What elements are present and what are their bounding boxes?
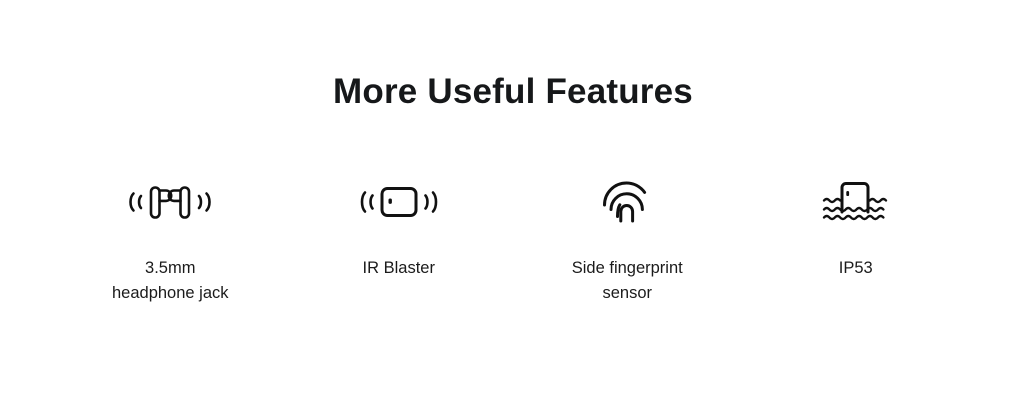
ir-blaster-icon [356, 174, 442, 230]
feature-item-ip-rating: IP53 [742, 174, 971, 281]
feature-item-headphone-jack: 3.5mm headphone jack [56, 174, 285, 306]
fingerprint-icon [600, 174, 654, 230]
feature-item-fingerprint: Side fingerprint sensor [513, 174, 742, 306]
feature-label: IR Blaster [363, 256, 435, 281]
feature-label: IP53 [839, 256, 873, 281]
earbuds-sound-waves-icon [120, 174, 220, 230]
water-resistant-phone-icon [821, 174, 891, 230]
feature-label: 3.5mm headphone jack [112, 256, 229, 306]
features-row: 3.5mm headphone jack IR Blaster [0, 174, 1026, 306]
feature-label: Side fingerprint sensor [572, 256, 683, 306]
more-useful-features-section: More Useful Features [0, 0, 1026, 407]
feature-item-ir-blaster: IR Blaster [285, 174, 514, 281]
page-title: More Useful Features [0, 0, 1026, 112]
